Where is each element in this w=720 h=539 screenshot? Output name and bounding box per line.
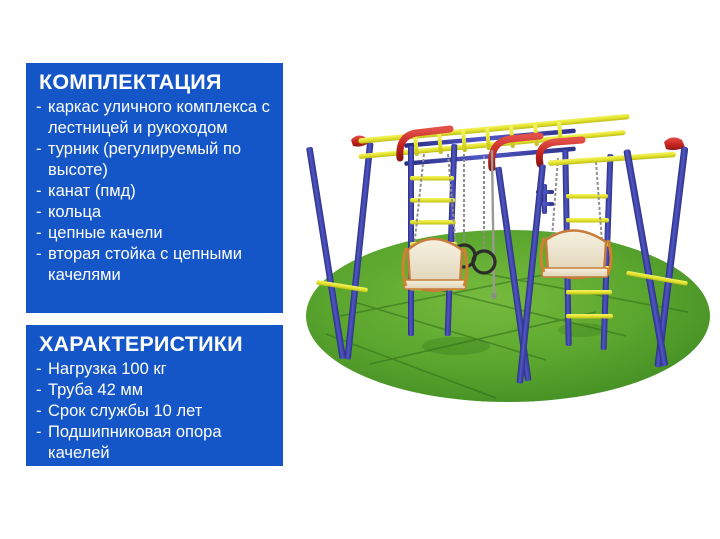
list-item-text: канат (пмд) bbox=[48, 181, 273, 202]
list-item-text: кольца bbox=[48, 202, 273, 223]
list-item: - каркас уличного комплекса с лестницей … bbox=[36, 97, 273, 139]
bullet-dash: - bbox=[36, 97, 42, 118]
list-item-text: Труба 42 мм bbox=[48, 380, 273, 401]
harakteristiki-list: - Нагрузка 100 кг - Труба 42 мм - Срок с… bbox=[36, 359, 273, 464]
panel-title-komplektaciya: КОМПЛЕКТАЦИЯ bbox=[39, 69, 273, 95]
list-item-text: Срок службы 10 лет bbox=[48, 401, 273, 422]
bullet-dash: - bbox=[36, 401, 42, 422]
list-item: - кольца bbox=[36, 202, 273, 223]
bullet-dash: - bbox=[36, 181, 42, 202]
list-item: - канат (пмд) bbox=[36, 181, 273, 202]
bullet-dash: - bbox=[36, 422, 42, 443]
list-item-text: вторая стойка с цепными качелями bbox=[48, 244, 273, 286]
product-photo-playground-complex bbox=[296, 98, 720, 418]
panel-title-harakteristiki: ХАРАКТЕРИСТИКИ bbox=[39, 331, 273, 357]
bullet-dash: - bbox=[36, 359, 42, 380]
product-listing-image: КОМПЛЕКТАЦИЯ - каркас уличного комплекса… bbox=[0, 0, 720, 539]
list-item: - Срок службы 10 лет bbox=[36, 401, 273, 422]
list-item-text: Нагрузка 100 кг bbox=[48, 359, 273, 380]
list-item-text: турник (регулируемый по высоте) bbox=[48, 139, 273, 181]
komplektaciya-list: - каркас уличного комплекса с лестницей … bbox=[36, 97, 273, 286]
bullet-dash: - bbox=[36, 139, 42, 160]
list-item-text: цепные качели bbox=[48, 223, 273, 244]
list-item-text: каркас уличного комплекса с лестницей и … bbox=[48, 97, 273, 139]
list-item: - цепные качели bbox=[36, 223, 273, 244]
avito-dots-icon bbox=[617, 499, 639, 521]
list-item: - Нагрузка 100 кг bbox=[36, 359, 273, 380]
bullet-dash: - bbox=[36, 223, 42, 244]
bullet-dash: - bbox=[36, 380, 42, 401]
bullet-dash: - bbox=[36, 202, 42, 223]
info-panel-harakteristiki: ХАРАКТЕРИСТИКИ - Нагрузка 100 кг - Труба… bbox=[26, 325, 283, 466]
list-item: - турник (регулируемый по высоте) bbox=[36, 139, 273, 181]
list-item: - Подшипниковая опора качелей bbox=[36, 422, 273, 464]
bullet-dash: - bbox=[36, 244, 42, 265]
list-item: - вторая стойка с цепными качелями bbox=[36, 244, 273, 286]
avito-wordmark: Avito bbox=[642, 498, 701, 525]
list-item: - Труба 42 мм bbox=[36, 380, 273, 401]
info-panel-komplektaciya: КОМПЛЕКТАЦИЯ - каркас уличного комплекса… bbox=[26, 63, 283, 313]
list-item-text: Подшипниковая опора качелей bbox=[48, 422, 273, 464]
avito-watermark: Avito bbox=[612, 494, 710, 530]
